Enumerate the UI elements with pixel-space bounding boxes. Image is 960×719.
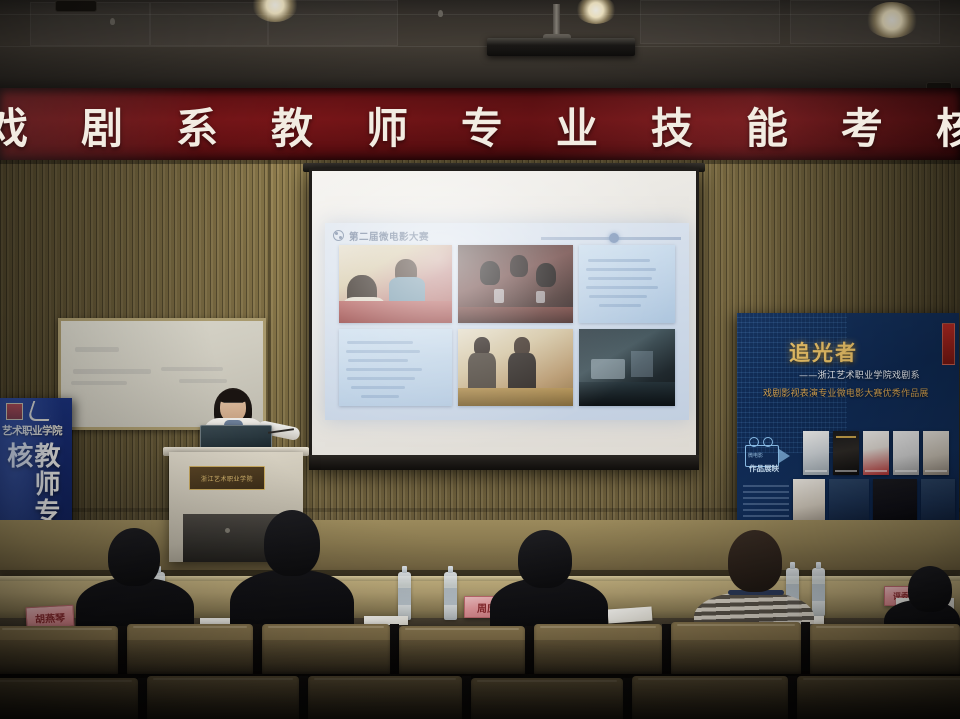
podium-plaque: 浙江艺术职业学院 [189, 466, 265, 490]
auditorium-seat[interactable] [471, 678, 623, 719]
banner-char-10: 核 [936, 95, 960, 156]
banner-char-8: 能 [746, 95, 788, 156]
poster-red-strip [942, 323, 955, 365]
water-bottle [398, 572, 411, 620]
slide-title: 第二届微电影大赛 [349, 229, 429, 243]
podium-knob [225, 528, 230, 533]
screen-bottom-bar [309, 455, 699, 470]
photo-collage-grid [339, 245, 675, 406]
poster-subtitle: ——浙江艺术职业学院戏剧系 [799, 368, 959, 381]
water-bottle [444, 572, 457, 620]
auditorium-seat[interactable] [147, 676, 299, 719]
poster-subtitle-secondary: 戏剧影视表演专业微电影大赛优秀作品展 [763, 386, 959, 399]
auditorium-seat[interactable] [632, 676, 788, 719]
collage-photo-2 [458, 245, 574, 323]
auditorium-seat[interactable] [534, 624, 662, 674]
audience-member-3-head [518, 530, 572, 588]
ceiling-speaker [55, 0, 97, 12]
presentation-slide: 第二届微电影大赛 [325, 223, 689, 420]
sprinkler-icon [438, 10, 443, 17]
auditorium-seat[interactable] [308, 676, 462, 719]
poster-thumbnail-row-top [803, 431, 949, 475]
auditorium-photo-scene: 戏 剧 系 教 师 专 业 技 能 考 核 [0, 0, 960, 719]
placard-name-left: 胡燕琴 [35, 609, 66, 626]
banner-char-4: 师 [366, 95, 408, 156]
collage-photo-4 [339, 329, 452, 407]
auditorium-seat[interactable] [127, 624, 253, 674]
auditorium-seat[interactable] [671, 622, 801, 674]
poster-title: 追光者 [789, 337, 909, 367]
collage-photo-5 [458, 329, 574, 407]
banner-char-9: 考 [841, 95, 883, 156]
audience-member-1-head [108, 528, 160, 586]
slide-header: 第二届微电影大赛 [333, 227, 429, 244]
collage-photo-1 [339, 245, 452, 323]
banner-char-2: 系 [176, 95, 218, 156]
sprinkler-icon [110, 18, 115, 25]
red-event-banner: 戏 剧 系 教 师 专 业 技 能 考 核 [0, 88, 960, 163]
audience-member-4-head [728, 530, 782, 592]
collage-photo-6 [579, 329, 675, 407]
school-crest-logo [6, 403, 23, 420]
movie-camera-icon: 微电影 作品展映 [745, 437, 791, 469]
projector-mount-stem [553, 4, 560, 38]
slide-accent-dot [609, 233, 619, 243]
poster-camera-sublabel: 微电影 [748, 452, 763, 459]
audience-member-5-head [908, 566, 952, 612]
collage-photo-3 [579, 245, 675, 323]
audience-member-2-head [264, 510, 320, 576]
auditorium-seat[interactable] [262, 624, 390, 674]
auditorium-seat[interactable] [0, 626, 118, 674]
screen-surface: 第二届微电影大赛 [312, 171, 696, 465]
banner-char-1: 剧 [81, 95, 123, 156]
film-reel-icon [333, 230, 344, 241]
school-swoosh-icon [27, 401, 55, 421]
auditorium-seat[interactable] [810, 624, 960, 674]
presenter-glasses [224, 402, 243, 407]
banner-char-0: 戏 [0, 95, 28, 156]
poster-camera-label: 作品展映 [749, 463, 779, 474]
ceiling-downlight [866, 2, 918, 38]
auditorium-seat[interactable] [797, 676, 960, 719]
projector-housing [487, 38, 635, 56]
auditorium-seat[interactable] [399, 626, 525, 674]
banner-char-3: 教 [271, 95, 313, 156]
left-banner-school-name: 艺术职业学院 [2, 423, 72, 438]
banner-char-7: 技 [651, 95, 693, 156]
ceiling [0, 0, 960, 96]
banner-char-6: 业 [556, 95, 598, 156]
banner-char-5: 专 [461, 95, 503, 156]
auditorium-seat[interactable] [0, 678, 138, 719]
banner-text: 戏 剧 系 教 师 专 业 技 能 考 核 [0, 93, 960, 157]
projection-screen: 第二届微电影大赛 [309, 168, 699, 468]
water-bottle [812, 568, 825, 616]
